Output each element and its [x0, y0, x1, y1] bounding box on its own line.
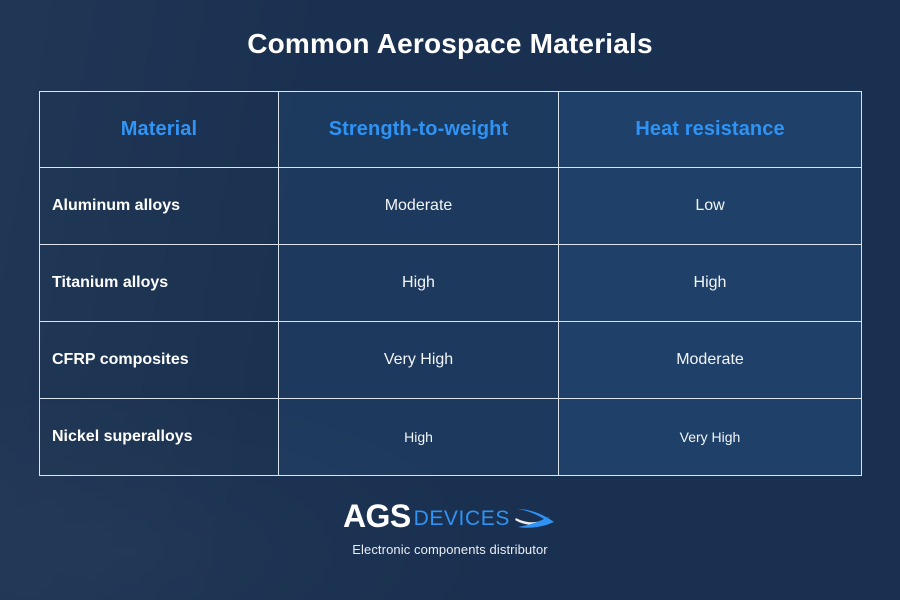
column-header-strength-to-weight: Strength-to-weight	[279, 92, 559, 168]
page-title: Common Aerospace Materials	[0, 28, 900, 60]
column-header-heat-resistance: Heat resistance	[559, 92, 862, 168]
logo-primary-text: AGS	[343, 500, 411, 532]
materials-table: Material Strength-to-weight Heat resista…	[39, 91, 862, 476]
brand-footer: AGS DEVICES Electronic components distri…	[0, 498, 900, 557]
cell-strength-to-weight: High	[279, 245, 559, 322]
cell-heat-resistance: Very High	[559, 399, 862, 476]
slide-canvas: Common Aerospace Materials Material Stre…	[0, 0, 900, 600]
cell-strength-to-weight: Very High	[279, 322, 559, 399]
cell-strength-to-weight: High	[279, 399, 559, 476]
table-row: Aluminum alloys Moderate Low	[40, 168, 862, 245]
table-header-row: Material Strength-to-weight Heat resista…	[40, 92, 862, 168]
logo-secondary-text: DEVICES	[414, 508, 510, 529]
cell-strength-to-weight: Moderate	[279, 168, 559, 245]
cell-heat-resistance: High	[559, 245, 862, 322]
logo: AGS DEVICES	[343, 498, 557, 534]
cell-material: Aluminum alloys	[40, 168, 279, 245]
cell-heat-resistance: Moderate	[559, 322, 862, 399]
table-body: Aluminum alloys Moderate Low Titanium al…	[40, 168, 862, 476]
table-row: Nickel superalloys High Very High	[40, 399, 862, 476]
table-header: Material Strength-to-weight Heat resista…	[40, 92, 862, 168]
cell-material: Nickel superalloys	[40, 399, 279, 476]
materials-table-container: Material Strength-to-weight Heat resista…	[39, 91, 861, 476]
cell-material: Titanium alloys	[40, 245, 279, 322]
column-header-material: Material	[40, 92, 279, 168]
brand-tagline: Electronic components distributor	[0, 542, 900, 557]
cell-material: CFRP composites	[40, 322, 279, 399]
swoosh-arrow-icon	[513, 500, 557, 534]
table-row: CFRP composites Very High Moderate	[40, 322, 862, 399]
cell-heat-resistance: Low	[559, 168, 862, 245]
table-row: Titanium alloys High High	[40, 245, 862, 322]
